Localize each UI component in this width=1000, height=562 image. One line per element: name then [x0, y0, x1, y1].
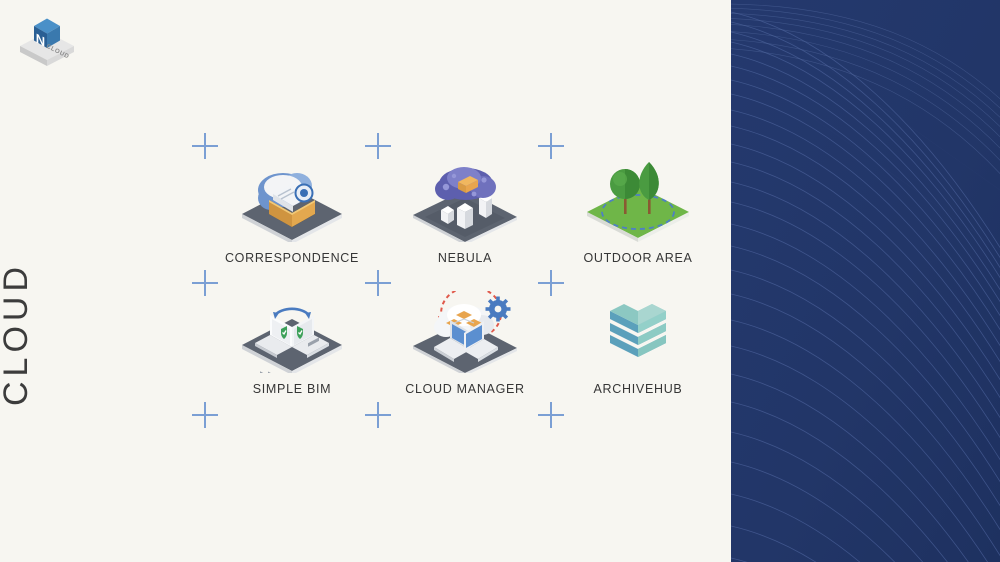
plus-decoration — [538, 133, 564, 159]
trees-lawn-icon — [551, 160, 725, 242]
product-label: SIMPLE BIM — [205, 382, 379, 396]
flow-line-pattern — [731, 0, 1000, 562]
product-tile-correspondence[interactable]: CORRESPONDENCE — [205, 160, 379, 265]
product-label: OUTDOOR AREA — [551, 251, 725, 265]
stacked-chevron-layers-icon — [551, 291, 725, 373]
two-laptops-sync-shield-icon — [205, 291, 379, 373]
product-label: NEBULA — [378, 251, 552, 265]
product-tile-outdoor-area[interactable]: OUTDOOR AREA — [551, 160, 725, 265]
side-title: CLOUD — [0, 224, 36, 444]
product-tile-archivehub[interactable]: ARCHIVEHUB — [551, 291, 725, 396]
cloud-gear-laptops-icon — [378, 291, 552, 373]
product-label: ARCHIVEHUB — [551, 382, 725, 396]
logo-icon: N CLOUD — [12, 6, 82, 70]
plus-decoration — [365, 133, 391, 159]
product-tile-cloud-manager[interactable]: CLOUD MANAGER — [378, 291, 552, 396]
product-tile-nebula[interactable]: NEBULA — [378, 160, 552, 265]
product-label: CLOUD MANAGER — [378, 382, 552, 396]
slide-canvas: N CLOUD CLOUD — [0, 0, 1000, 562]
nemetschek-cloud-logo[interactable]: N CLOUD — [12, 6, 82, 70]
product-label: CORRESPONDENCE — [205, 251, 379, 265]
product-tile-simple-bim[interactable]: SIMPLE BIM — [205, 291, 379, 396]
product-grid: CORRESPONDENCE — [205, 160, 725, 420]
cloud-envelope-seal-icon — [205, 160, 379, 242]
plus-decoration — [192, 133, 218, 159]
purple-cloud-city-icon — [378, 160, 552, 242]
decorative-navy-panel — [731, 0, 1000, 562]
